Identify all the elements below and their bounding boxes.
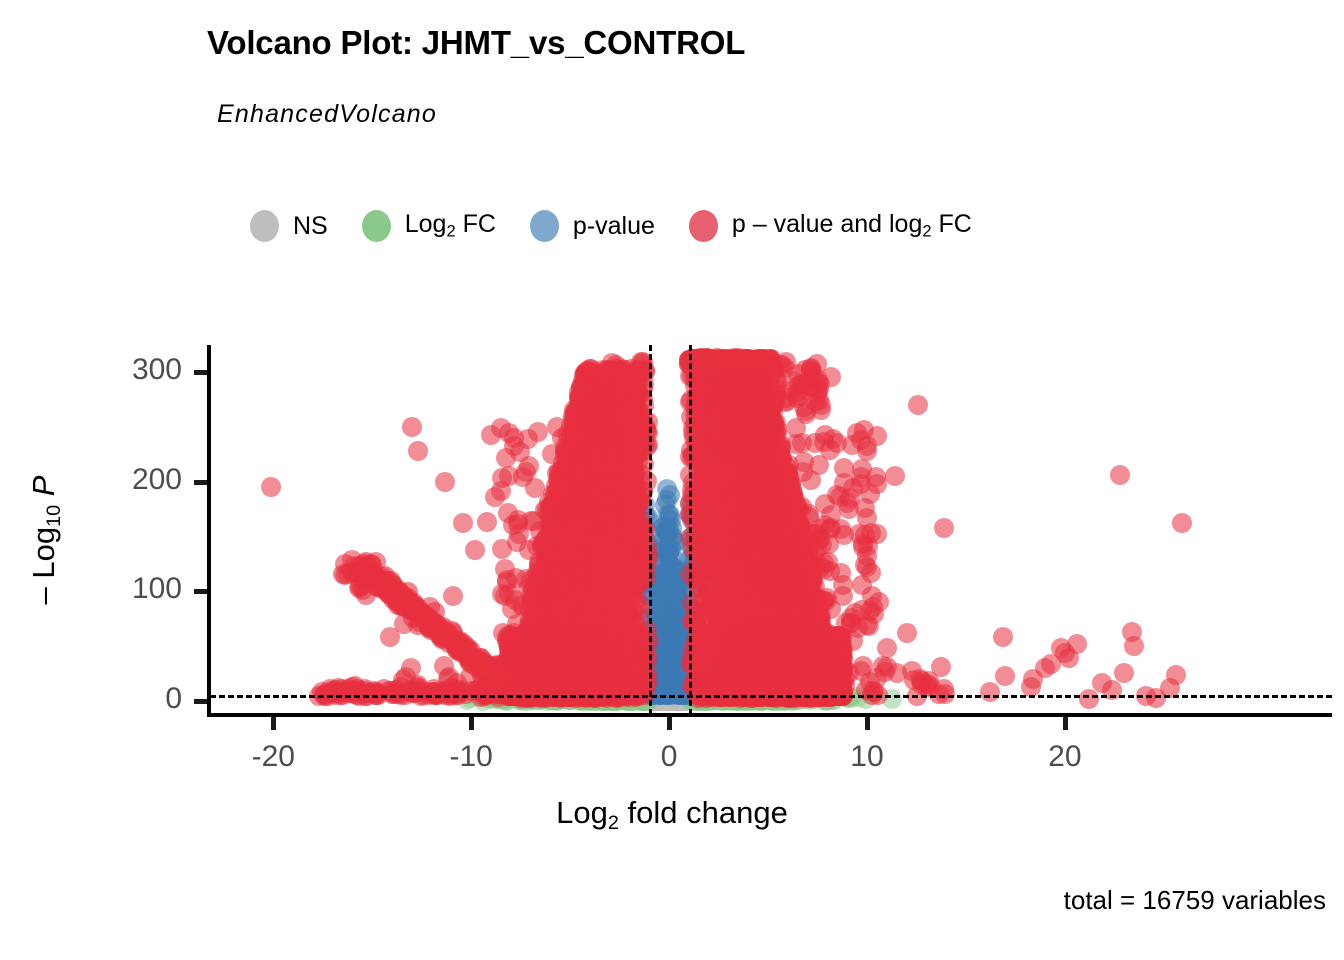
legend-item-log2fc[interactable]: Log2 FC	[362, 210, 496, 242]
volcano-plot-figure: Volcano Plot: JHMT_vs_CONTROL EnhancedVo…	[0, 0, 1344, 960]
legend-label-pvalue-and-log2fc: p – value and log2 FC	[732, 210, 972, 242]
legend-marker-pvalue	[530, 210, 559, 242]
legend-marker-log2fc	[362, 210, 391, 242]
legend-marker-pvalue-and-log2fc	[689, 210, 718, 242]
legend-label-pvalue: p-value	[573, 212, 655, 241]
legend-item-ns[interactable]: NS	[250, 210, 328, 242]
subtitle: EnhancedVolcano	[217, 100, 437, 129]
page-title: Volcano Plot: JHMT_vs_CONTROL	[207, 24, 745, 62]
chart-legend: NS Log2 FC p-value p – value and log2 FC	[250, 203, 1006, 249]
scatter-points-layer	[210, 345, 1330, 714]
legend-item-pvalue[interactable]: p-value	[530, 210, 655, 242]
legend-item-pvalue-and-log2fc[interactable]: p – value and log2 FC	[689, 210, 972, 242]
data-point	[657, 479, 677, 499]
legend-label-ns: NS	[293, 212, 328, 241]
legend-marker-ns	[250, 210, 279, 242]
plot-panel	[210, 345, 1330, 714]
legend-label-log2fc: Log2 FC	[405, 210, 496, 242]
